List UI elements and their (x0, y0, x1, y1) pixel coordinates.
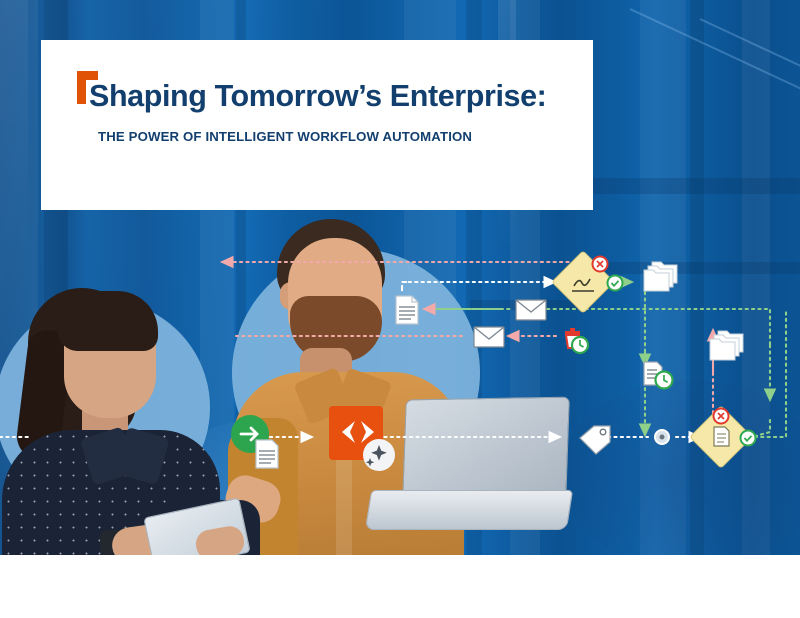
approve-badge (741, 431, 756, 446)
ebook-cover: Shaping Tomorrow’s Enterprise: THE POWER… (0, 0, 800, 618)
flow-loop-back (742, 312, 786, 437)
reject-badge (714, 409, 729, 424)
flow-main-upper (402, 282, 555, 288)
folder-stack-icon (710, 331, 743, 360)
tag-icon (580, 426, 610, 454)
delete-timer-node (565, 328, 588, 353)
document-icon (396, 296, 418, 324)
merge-junction-node (655, 430, 669, 444)
footer: EBOOK Laserfiche® (0, 555, 800, 618)
folder-stack-icon (644, 262, 677, 291)
reject-badge (593, 257, 608, 272)
email-icon (516, 300, 546, 320)
document-input-icon (256, 440, 278, 468)
title-card: Shaping Tomorrow’s Enterprise: THE POWER… (41, 40, 593, 210)
email-icon (474, 327, 504, 347)
page-title: Shaping Tomorrow’s Enterprise: (89, 80, 573, 113)
approve-badge (608, 276, 623, 291)
document-timer-node (644, 362, 673, 389)
page-subtitle: THE POWER OF INTELLIGENT WORKFLOW AUTOMA… (98, 129, 573, 144)
corner-bracket-icon (77, 71, 98, 104)
ai-sparkle-badge (363, 439, 395, 471)
